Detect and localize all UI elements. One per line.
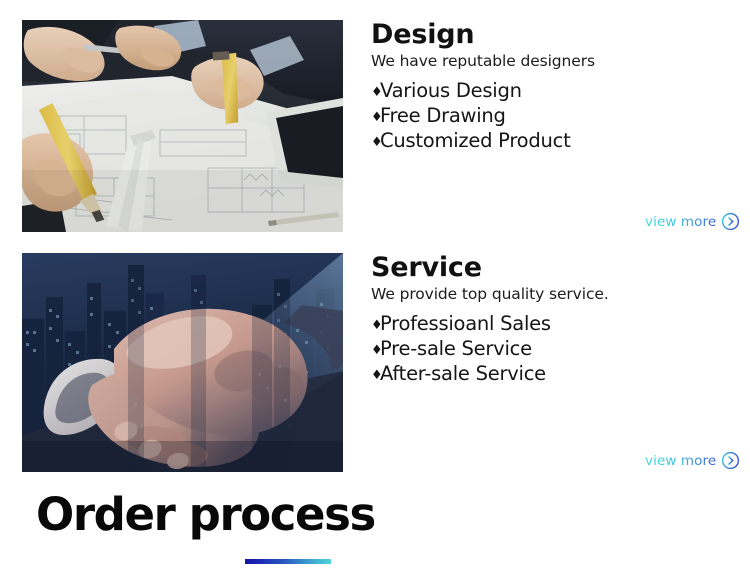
design-photo-artwork [22, 20, 343, 232]
list-item-label: Professioanl Sales [380, 312, 551, 337]
order-process-section: Order process [0, 488, 750, 584]
circle-arrow-right-icon [721, 212, 740, 231]
design-text-column: Design We have reputable designers ♦ Var… [371, 20, 731, 154]
list-item: ♦ Pre-sale Service [371, 337, 731, 362]
feature-block-service: Service We provide top quality service. … [0, 253, 750, 473]
product-detail-page: Design We have reputable designers ♦ Var… [0, 0, 750, 584]
view-more-link-service[interactable]: view more [645, 451, 740, 470]
list-item: ♦ Free Drawing [371, 104, 731, 129]
feature-list-service: ♦ Professioanl Sales ♦ Pre-sale Service … [371, 312, 731, 387]
diamond-bullet-icon: ♦ [371, 369, 380, 382]
list-item: ♦ After-sale Service [371, 362, 731, 387]
feature-block-design: Design We have reputable designers ♦ Var… [0, 20, 750, 232]
diamond-bullet-icon: ♦ [371, 111, 380, 124]
page-title: Order process [36, 488, 375, 543]
service-text-column: Service We provide top quality service. … [371, 253, 731, 387]
list-item-label: After-sale Service [380, 362, 546, 387]
service-handshake-photo [22, 253, 343, 472]
title-underline-accent [245, 559, 331, 564]
list-item: ♦ Customized Product [371, 129, 731, 154]
design-blueprint-photo [22, 20, 343, 232]
feature-subtitle-design: We have reputable designers [371, 51, 731, 72]
service-photo-artwork [22, 253, 343, 472]
feature-subtitle-service: We provide top quality service. [371, 284, 731, 305]
diamond-bullet-icon: ♦ [371, 86, 380, 99]
list-item-label: Customized Product [380, 129, 570, 154]
list-item: ♦ Various Design [371, 79, 731, 104]
feature-title-design: Design [371, 20, 731, 49]
list-item: ♦ Professioanl Sales [371, 312, 731, 337]
list-item-label: Free Drawing [380, 104, 506, 129]
list-item-label: Pre-sale Service [380, 337, 532, 362]
view-more-label: view more [645, 214, 716, 230]
diamond-bullet-icon: ♦ [371, 136, 380, 149]
view-more-link-design[interactable]: view more [645, 212, 740, 231]
diamond-bullet-icon: ♦ [371, 319, 380, 332]
diamond-bullet-icon: ♦ [371, 344, 380, 357]
feature-title-service: Service [371, 253, 731, 282]
view-more-label: view more [645, 453, 716, 469]
list-item-label: Various Design [380, 79, 522, 104]
feature-list-design: ♦ Various Design ♦ Free Drawing ♦ Custom… [371, 79, 731, 154]
circle-arrow-right-icon [721, 451, 740, 470]
